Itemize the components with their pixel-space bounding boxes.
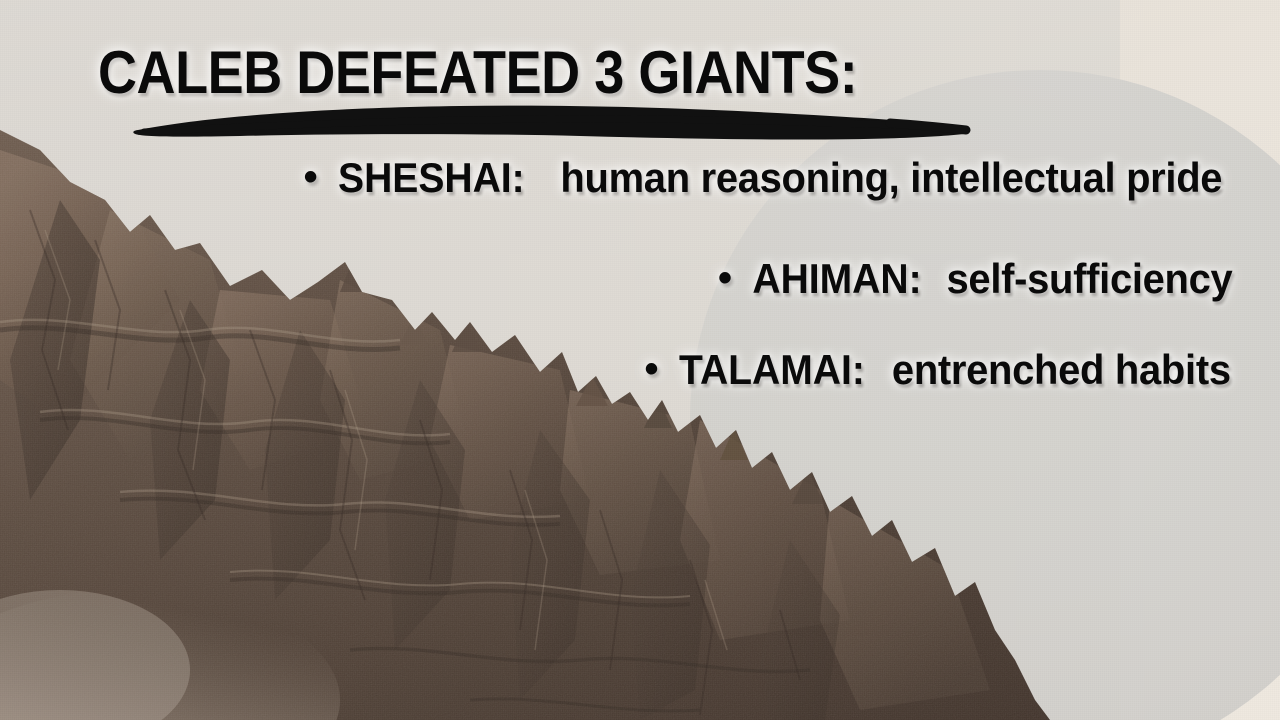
list-item: •TALAMAI: entrenched habits (200, 342, 1240, 397)
bullet-term: AHIMAN: (752, 252, 921, 306)
page-title: CALEB DEFEATED 3 GIANTS: (98, 43, 857, 103)
bullet-dot-icon: • (304, 155, 318, 199)
bullet-description: human reasoning, intellectual pride (561, 151, 1223, 205)
list-item: •AHIMAN: self-sufficiency (200, 251, 1240, 306)
bullet-dot-icon: • (718, 256, 732, 300)
bullet-list: •SHESHAI: human reasoning, intellectual … (200, 150, 1240, 397)
bullet-dot-icon: • (644, 347, 658, 391)
bullet-description: self-sufficiency (947, 252, 1233, 306)
bullet-term: TALAMAI: (679, 343, 865, 397)
presentation-slide: CALEB DEFEATED 3 GIANTS: •SHESHAI: human… (0, 0, 1280, 720)
list-item: •SHESHAI: human reasoning, intellectual … (200, 150, 1240, 205)
bullet-term: SHESHAI: (338, 151, 525, 205)
bullet-description: entrenched habits (892, 343, 1231, 397)
